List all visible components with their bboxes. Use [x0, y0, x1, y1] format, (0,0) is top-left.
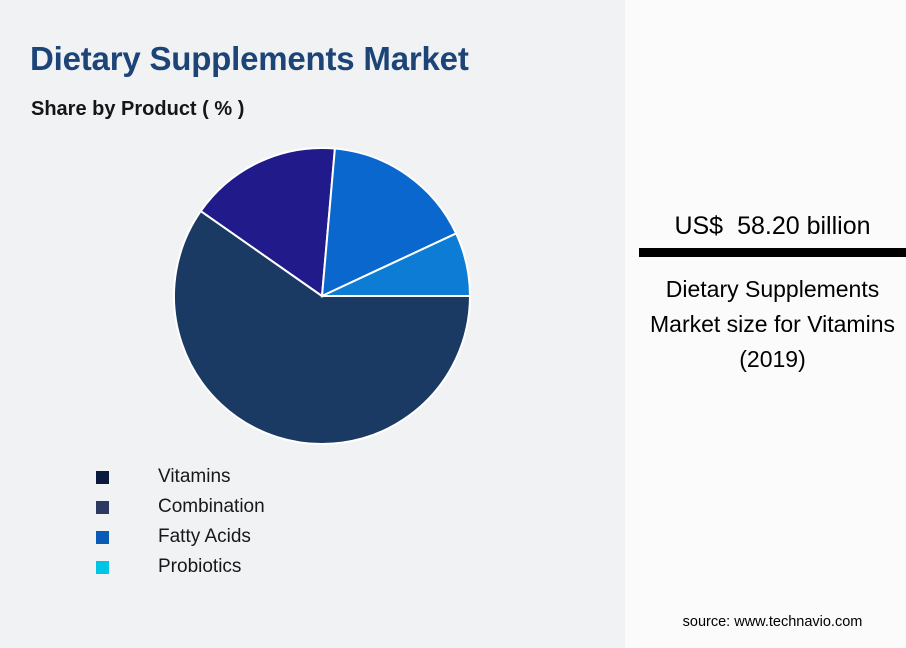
legend-label-vitamins: Vitamins [158, 466, 231, 488]
callout-currency: US$ [674, 212, 723, 240]
legend-item-probiotics[interactable]: Probiotics [96, 552, 426, 582]
page-title: Dietary Supplements Market [30, 40, 469, 78]
pie-chart-svg [172, 146, 472, 446]
legend-swatch-combination [96, 501, 109, 514]
legend-swatch-fatty-acids [96, 531, 109, 544]
source-note: source: www.technavio.com [639, 614, 906, 630]
pie-chart [172, 146, 472, 446]
legend-label-combination: Combination [158, 496, 265, 518]
legend-item-vitamins[interactable]: Vitamins [96, 462, 426, 492]
callout-panel: US$58.20 billion Dietary Supplements Mar… [625, 0, 906, 648]
legend-label-fatty-acids: Fatty Acids [158, 526, 251, 548]
legend-swatch-probiotics [96, 561, 109, 574]
callout-caption: Dietary Supplements Market size for Vita… [639, 272, 906, 377]
legend-swatch-vitamins [96, 471, 109, 484]
callout-divider-rule [639, 248, 906, 257]
legend-item-fatty-acids[interactable]: Fatty Acids [96, 522, 426, 552]
chart-page: Dietary Supplements Market Share by Prod… [0, 0, 906, 648]
legend-item-combination[interactable]: Combination [96, 492, 426, 522]
chart-subtitle: Share by Product ( % ) [31, 98, 244, 121]
chart-legend: Vitamins Combination Fatty Acids Probiot… [96, 462, 426, 582]
chart-panel: Dietary Supplements Market Share by Prod… [0, 0, 624, 648]
legend-label-probiotics: Probiotics [158, 556, 241, 578]
callout-value: 58.20 billion [737, 212, 870, 240]
callout-value-line: US$58.20 billion [639, 212, 906, 241]
